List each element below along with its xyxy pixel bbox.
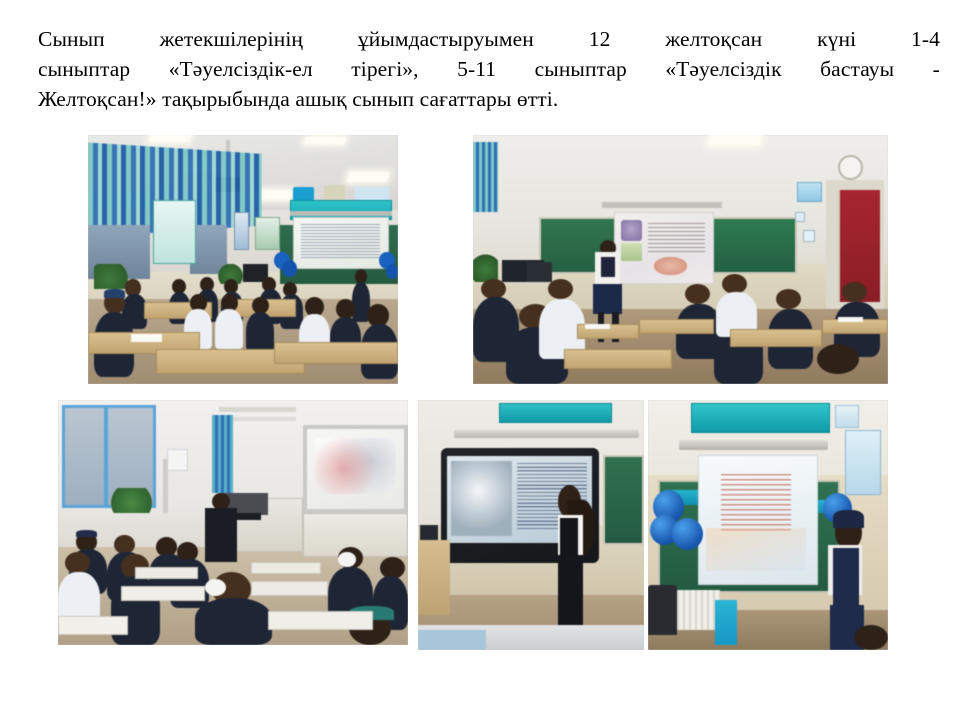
photo-content (58, 400, 408, 645)
photo-content (648, 400, 888, 650)
caption-word: бастауы (820, 54, 894, 84)
caption-word: - (933, 54, 940, 84)
caption-word: сыныптар (38, 54, 130, 84)
caption-word: 5-11 (457, 54, 496, 84)
caption-word: 12 (589, 24, 611, 54)
caption-line-2: сыныптар «Тәуелсіздік-ел тірегі», 5-11 с… (38, 54, 940, 84)
photo-content (88, 135, 398, 384)
photo-content (418, 400, 644, 650)
photo-classroom-wide (88, 135, 398, 384)
caption-word: «Тәуелсіздік (665, 54, 781, 84)
photo-teacher-whiteboard (58, 400, 408, 645)
caption-word: желтоқсан (665, 24, 762, 54)
caption-word: сыныптар (535, 54, 627, 84)
caption-line-3: Желтоқсан!» тақырыбында ашық сынып сағат… (38, 84, 940, 114)
caption-word: 1-4 (911, 24, 940, 54)
caption-word: жетекшілерінің (160, 24, 303, 54)
caption-word: күні (817, 24, 856, 54)
photo-girl-smartboard (418, 400, 644, 650)
photo-boy-screen (648, 400, 888, 650)
caption-word: ұйымдастыруымен (358, 24, 534, 54)
caption-word: тірегі», (351, 54, 418, 84)
caption-word: «Тәуелсіздік-ел (169, 54, 313, 84)
caption-paragraph: Сынып жетекшілерінің ұйымдастыруымен 12 … (38, 24, 940, 114)
photo-girl-presenting (473, 135, 888, 384)
photo-content (473, 135, 888, 384)
slide-page: Сынып жетекшілерінің ұйымдастыруымен 12 … (0, 0, 960, 720)
caption-word: Сынып (38, 24, 105, 54)
caption-line-1: Сынып жетекшілерінің ұйымдастыруымен 12 … (38, 24, 940, 54)
